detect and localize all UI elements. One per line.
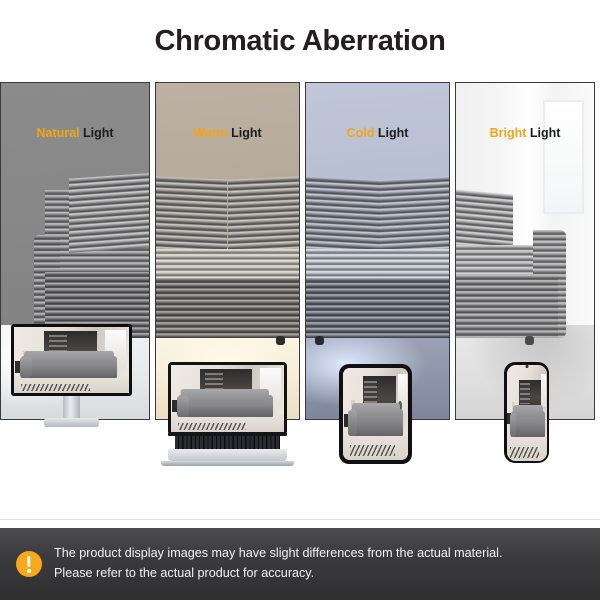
panel-slot-warm-light: Warm Light bbox=[155, 82, 300, 504]
panel-label-rest: Light bbox=[228, 126, 262, 140]
disclaimer-line-2: Please refer to the actual product for a… bbox=[54, 564, 502, 584]
disclaimer-bar: The product display images may have slig… bbox=[0, 528, 600, 600]
lighting-comparison-strip: Natural Light bbox=[0, 82, 600, 504]
panel-label-accent: Warm bbox=[193, 126, 227, 140]
header: Chromatic Aberration bbox=[0, 0, 600, 82]
panel-slot-cold-light: Cold Light bbox=[305, 82, 450, 504]
page-title: Chromatic Aberration bbox=[154, 25, 445, 58]
panel-label-warm-light: Warm Light bbox=[155, 126, 300, 140]
sofa-bright bbox=[456, 188, 594, 338]
panel-label-cold-light: Cold Light bbox=[305, 126, 450, 140]
exclamation-circle-icon bbox=[16, 551, 42, 577]
panel-label-natural-light: Natural Light bbox=[0, 126, 150, 140]
panel-label-rest: Light bbox=[526, 126, 560, 140]
floor-highlight-cold bbox=[306, 325, 449, 419]
divider bbox=[0, 519, 600, 520]
panel-label-accent: Natural bbox=[36, 126, 79, 140]
panel-label-bright-light: Bright Light bbox=[455, 126, 595, 140]
sofa-warm bbox=[156, 178, 299, 338]
panel-slot-bright-light: Bright Light bbox=[455, 82, 595, 504]
panel-label-accent: Bright bbox=[490, 126, 527, 140]
disclaimer-text: The product display images may have slig… bbox=[54, 544, 502, 583]
disclaimer-line-1: The product display images may have slig… bbox=[54, 544, 502, 564]
floor-highlight-natural bbox=[1, 325, 149, 419]
panel-label-rest: Light bbox=[374, 126, 408, 140]
sofa-cold bbox=[306, 178, 449, 338]
sofa-natural bbox=[1, 190, 149, 338]
panel-label-accent: Cold bbox=[347, 126, 375, 140]
panel-slot-natural-light: Natural Light bbox=[0, 82, 150, 504]
panel-label-rest: Light bbox=[80, 126, 114, 140]
